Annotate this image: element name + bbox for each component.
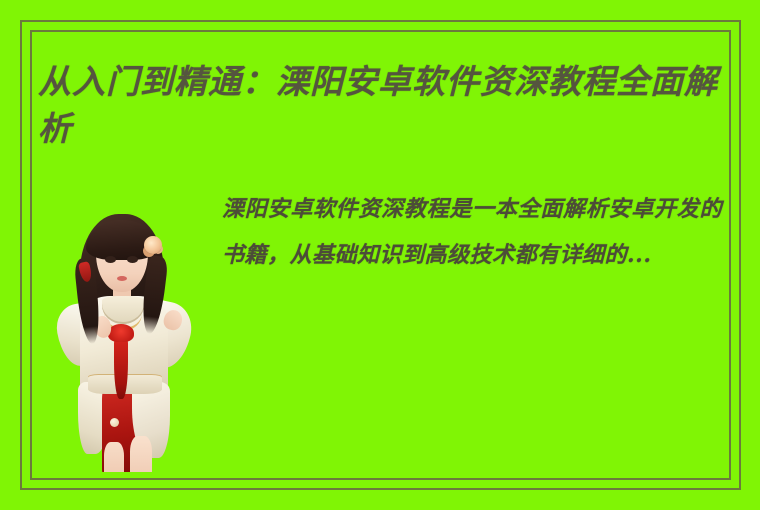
- leg-right: [130, 436, 152, 472]
- ribbon-bow: [108, 324, 134, 342]
- article-summary: 溧阳安卓软件资深教程是一本全面解析安卓开发的书籍，从基础知识到高级技术都有详细的…: [222, 186, 722, 278]
- eye-left: [105, 256, 116, 263]
- character-illustration: [52, 206, 212, 472]
- lips: [117, 276, 127, 281]
- leg-left: [104, 442, 124, 472]
- page-title: 从入门到精通：溧阳安卓软件资深教程全面解析: [38, 58, 728, 152]
- hair-flower-ornament: [144, 236, 162, 254]
- belt-tassel: [110, 418, 119, 427]
- ribbon-tail: [114, 337, 128, 399]
- eye-right: [127, 256, 138, 263]
- article-card: 从入门到精通：溧阳安卓软件资深教程全面解析 溧阳安卓软件资深教程是一本全面解析安…: [0, 0, 760, 510]
